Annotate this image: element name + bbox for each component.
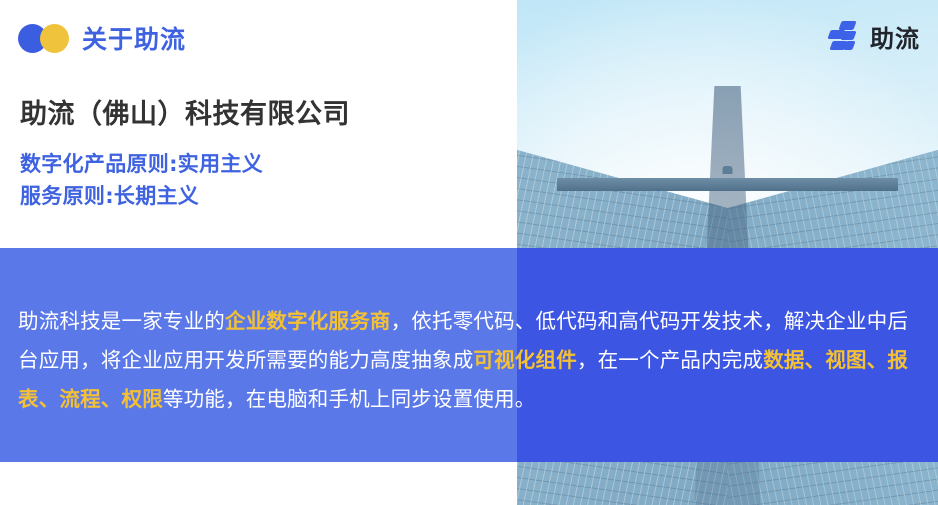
highlight-phrase: 企业数字化服务商	[225, 309, 391, 333]
principles-list: 数字化产品原则:实用主义 服务原则:长期主义	[20, 148, 263, 212]
body-text: 助流科技是一家专业的	[18, 309, 225, 333]
body-text: ，在一个产品内完成	[577, 348, 763, 372]
company-name: 助流（佛山）科技有限公司	[20, 92, 350, 131]
section-title: 关于助流	[82, 20, 186, 56]
principle-product: 数字化产品原则:实用主义	[20, 148, 263, 180]
highlight-phrase: 可视化组件	[473, 348, 577, 372]
description-paragraph: 助流科技是一家专业的企业数字化服务商，依托零代码、低代码和高代码开发技术，解决企…	[18, 302, 920, 419]
description-band: 助流科技是一家专业的企业数字化服务商，依托零代码、低代码和高代码开发技术，解决企…	[0, 248, 938, 462]
zhuliu-circles-logo-icon	[18, 24, 71, 53]
tower-crest	[557, 178, 898, 191]
about-slide: 助流 关于助流 助流（佛山）科技有限公司 数字化产品原则:实用主义 服务原则:长…	[0, 0, 938, 505]
tower-antenna	[723, 166, 733, 174]
zhuliu-bolt-logo-icon	[828, 21, 862, 52]
principle-service: 服务原则:长期主义	[20, 180, 263, 212]
corner-logo: 助流	[828, 19, 920, 54]
body-text: 等功能，在电脑和手机上同步设置使用。	[163, 387, 536, 411]
brand-row: 关于助流	[18, 20, 186, 56]
corner-logo-text: 助流	[870, 19, 920, 54]
